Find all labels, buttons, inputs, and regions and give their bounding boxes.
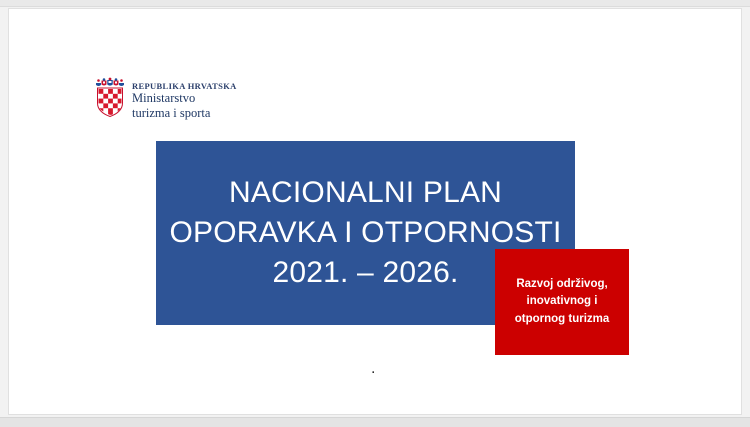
ministry-logo-lockup: REPUBLIKA HRVATSKA Ministarstvo turizma …	[95, 77, 237, 120]
republika-hrvatska-label: REPUBLIKA HRVATSKA	[132, 82, 237, 91]
stray-period-text: .	[371, 361, 375, 377]
subtitle-callout-box: Razvoj održivog, inovativnog i otpornog …	[495, 249, 629, 355]
ministry-name-line-1: Ministarstvo	[132, 92, 237, 106]
viewer-top-divider	[0, 0, 750, 7]
croatian-coat-of-arms-icon	[95, 77, 125, 117]
title-line-1: NACIONALNI PLAN	[229, 173, 502, 213]
title-line-2: OPORAVKA I OTPORNOSTI	[169, 213, 561, 253]
slide-canvas: REPUBLIKA HRVATSKA Ministarstvo turizma …	[8, 8, 742, 415]
slide-viewer: REPUBLIKA HRVATSKA Ministarstvo turizma …	[0, 0, 750, 426]
callout-line-2: inovativnog i	[527, 293, 598, 310]
callout-line-3: otpornog turizma	[515, 311, 610, 328]
ministry-name-line-2: turizma i sporta	[132, 107, 237, 121]
ministry-text-block: REPUBLIKA HRVATSKA Ministarstvo turizma …	[132, 77, 237, 120]
title-line-3: 2021. – 2026.	[272, 253, 458, 293]
callout-line-1: Razvoj održivog,	[516, 276, 607, 293]
